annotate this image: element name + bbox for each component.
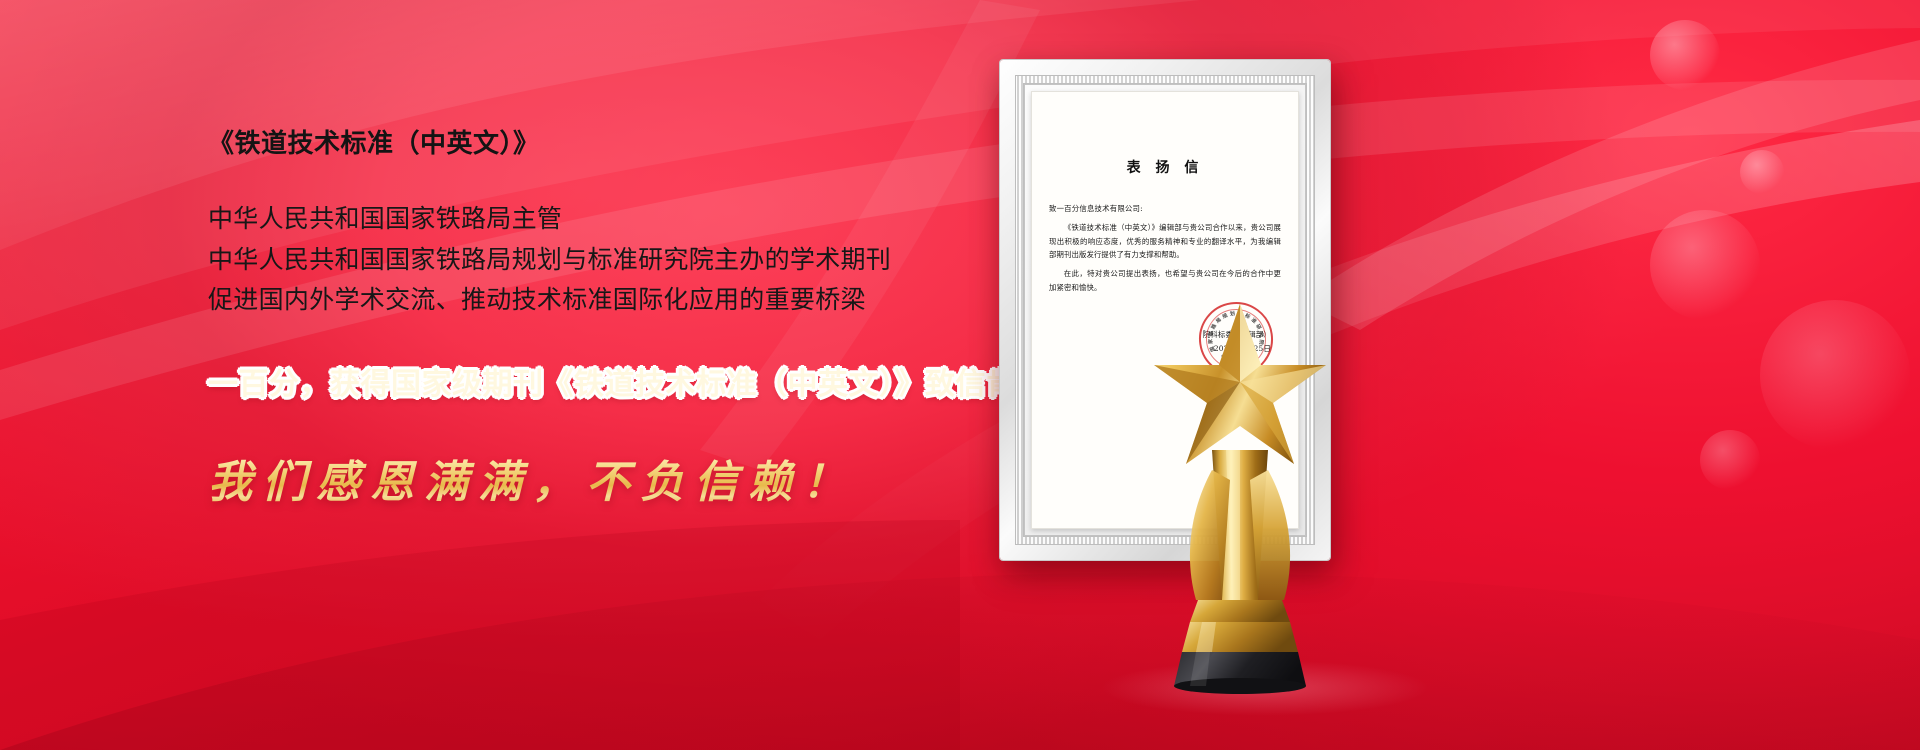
bokeh-circle <box>1700 430 1760 490</box>
journal-description-list: 中华人民共和国国家铁路局主管 中华人民共和国国家铁路局规划与标准研究院主办的学术… <box>208 199 1028 321</box>
journal-title: 《铁道技术标准（中英文）》 <box>208 128 1028 159</box>
gold-star-trophy <box>1140 300 1340 700</box>
bokeh-circle <box>1760 300 1910 450</box>
certificate-salutation: 致一百分信息技术有限公司: <box>1049 203 1281 216</box>
journal-description-line-3: 促进国内外学术交流、推动技术标准国际化应用的重要桥梁 <box>208 280 1028 321</box>
promo-banner: 《铁道技术标准（中英文）》 中华人民共和国国家铁路局主管 中华人民共和国国家铁路… <box>0 0 1920 750</box>
certificate-paragraph-2: 在此，特对贵公司提出表扬，也希望与贵公司在今后的合作中更加紧密和愉快。 <box>1049 267 1281 294</box>
bokeh-circle <box>1650 210 1760 320</box>
journal-description-line-1: 中华人民共和国国家铁路局主管 <box>208 199 1028 240</box>
award-headline: 一百分，获得国家级期刊《铁道技术标准（中英文）》致信肯定! <box>208 367 1028 403</box>
banner-copy: 《铁道技术标准（中英文）》 中华人民共和国国家铁路局主管 中华人民共和国国家铁路… <box>208 128 1028 507</box>
certificate-title: 表 扬 信 <box>1049 157 1281 177</box>
certificate-paragraph-1: 《铁道技术标准（中英文）》编辑部与贵公司合作以来，贵公司展现出积极的响应态度，优… <box>1049 221 1281 262</box>
bokeh-circle <box>1740 150 1784 194</box>
gratitude-calligraphy: 我们感恩满满，不负信赖！ <box>208 459 1028 507</box>
bokeh-circle <box>1650 20 1720 90</box>
journal-description-line-2: 中华人民共和国国家铁路局规划与标准研究院主办的学术期刊 <box>208 240 1028 281</box>
